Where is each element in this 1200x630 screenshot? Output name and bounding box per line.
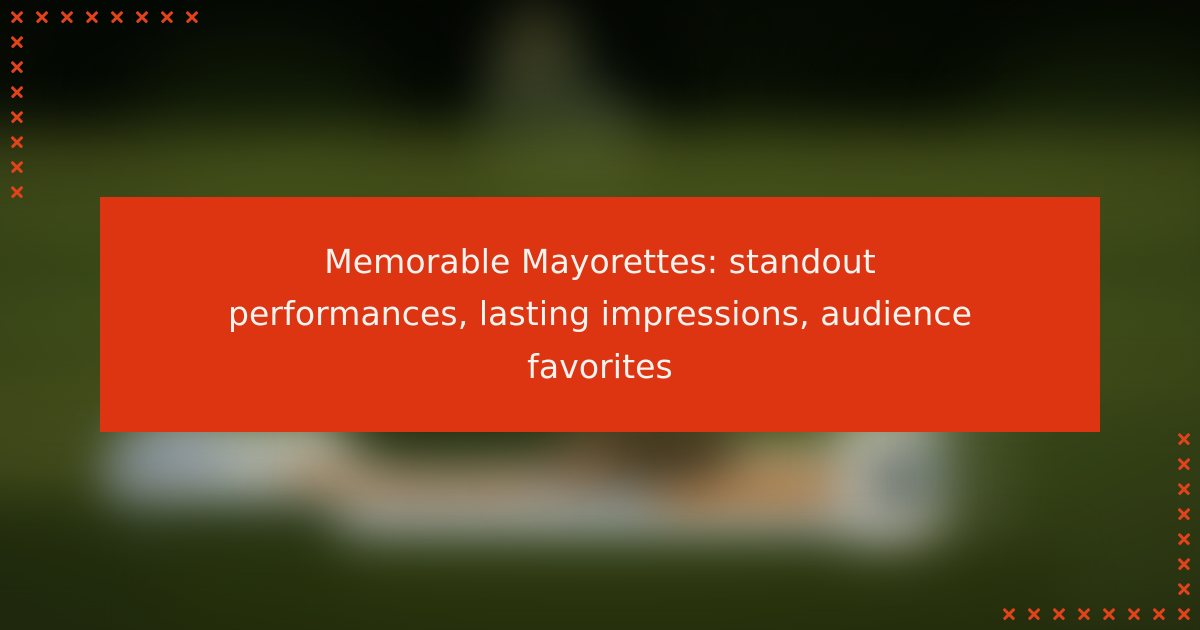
x-mark-icon (1021, 601, 1046, 626)
x-grid-spacer (129, 154, 154, 179)
x-grid-spacer (1121, 526, 1146, 551)
x-mark-icon (4, 104, 29, 129)
x-mark-icon (1071, 601, 1096, 626)
x-grid-spacer (1146, 526, 1171, 551)
x-grid-spacer (129, 129, 154, 154)
x-grid-spacer (54, 79, 79, 104)
x-grid-spacer (1021, 576, 1046, 601)
x-grid-spacer (1046, 576, 1071, 601)
x-grid-spacer (1046, 501, 1071, 526)
x-grid-spacer (54, 154, 79, 179)
x-mark-icon (4, 29, 29, 54)
x-grid-spacer (179, 54, 204, 79)
x-grid-spacer (1071, 526, 1096, 551)
headline-banner: Memorable Mayorettes: standout performan… (100, 197, 1100, 432)
x-mark-icon (1171, 476, 1196, 501)
x-grid-spacer (104, 129, 129, 154)
x-grid-spacer (1146, 451, 1171, 476)
x-grid-spacer (1071, 551, 1096, 576)
x-grid-spacer (179, 79, 204, 104)
x-grid-spacer (1121, 576, 1146, 601)
x-grid-spacer (104, 154, 129, 179)
x-grid-spacer (154, 104, 179, 129)
x-grid-spacer (179, 129, 204, 154)
x-mark-icon (54, 4, 79, 29)
x-grid-spacer (179, 104, 204, 129)
x-grid-spacer (154, 29, 179, 54)
page-title: Memorable Mayorettes: standout performan… (200, 236, 1000, 392)
x-mark-icon (996, 601, 1021, 626)
x-grid-spacer (996, 576, 1021, 601)
x-grid-spacer (1046, 451, 1071, 476)
x-grid-spacer (1021, 476, 1046, 501)
x-grid-spacer (1096, 576, 1121, 601)
x-grid-spacer (1121, 476, 1146, 501)
x-grid-spacer (154, 79, 179, 104)
x-grid-spacer (29, 179, 54, 204)
x-grid-spacer (1021, 551, 1046, 576)
x-grid-spacer (1146, 426, 1171, 451)
x-grid-spacer (29, 29, 54, 54)
x-mark-icon (1171, 501, 1196, 526)
decorative-x-grid-bottom-right (996, 426, 1196, 626)
x-grid-spacer (1121, 451, 1146, 476)
x-grid-spacer (996, 501, 1021, 526)
x-grid-spacer (154, 54, 179, 79)
x-grid-spacer (129, 29, 154, 54)
x-grid-spacer (1046, 526, 1071, 551)
x-mark-icon (1046, 601, 1071, 626)
x-grid-spacer (179, 29, 204, 54)
x-grid-spacer (1121, 501, 1146, 526)
x-mark-icon (4, 79, 29, 104)
x-grid-spacer (1096, 501, 1121, 526)
x-grid-spacer (54, 54, 79, 79)
x-grid-spacer (104, 104, 129, 129)
x-grid-spacer (29, 154, 54, 179)
x-grid-spacer (996, 526, 1021, 551)
x-mark-icon (154, 4, 179, 29)
x-grid-spacer (79, 129, 104, 154)
x-grid-spacer (54, 129, 79, 154)
x-grid-spacer (104, 54, 129, 79)
x-grid-spacer (79, 79, 104, 104)
x-grid-spacer (1121, 551, 1146, 576)
x-grid-spacer (54, 29, 79, 54)
x-mark-icon (1096, 601, 1121, 626)
x-grid-spacer (1146, 551, 1171, 576)
x-mark-icon (1171, 426, 1196, 451)
x-mark-icon (1171, 576, 1196, 601)
x-mark-icon (4, 179, 29, 204)
x-grid-spacer (54, 104, 79, 129)
x-mark-icon (29, 4, 54, 29)
x-grid-spacer (29, 54, 54, 79)
x-grid-spacer (104, 29, 129, 54)
x-mark-icon (129, 4, 154, 29)
x-grid-spacer (29, 104, 54, 129)
x-mark-icon (79, 4, 104, 29)
x-grid-spacer (1046, 476, 1071, 501)
x-grid-spacer (129, 54, 154, 79)
x-grid-spacer (1096, 551, 1121, 576)
x-grid-spacer (129, 79, 154, 104)
x-mark-icon (1146, 601, 1171, 626)
x-grid-spacer (79, 54, 104, 79)
x-mark-icon (1171, 526, 1196, 551)
x-grid-spacer (996, 551, 1021, 576)
x-grid-spacer (1096, 476, 1121, 501)
x-grid-spacer (29, 79, 54, 104)
x-grid-spacer (29, 129, 54, 154)
x-mark-icon (4, 129, 29, 154)
x-grid-spacer (1096, 451, 1121, 476)
x-mark-icon (1171, 601, 1196, 626)
x-grid-spacer (1021, 526, 1046, 551)
x-grid-spacer (79, 29, 104, 54)
x-grid-spacer (1146, 501, 1171, 526)
x-grid-spacer (79, 154, 104, 179)
x-grid-spacer (1096, 526, 1121, 551)
x-grid-spacer (104, 79, 129, 104)
x-mark-icon (4, 54, 29, 79)
x-grid-spacer (996, 476, 1021, 501)
x-grid-spacer (1021, 501, 1046, 526)
x-grid-spacer (1146, 576, 1171, 601)
x-grid-spacer (1071, 576, 1096, 601)
social-share-card: Memorable Mayorettes: standout performan… (0, 0, 1200, 630)
x-mark-icon (179, 4, 204, 29)
x-mark-icon (1121, 601, 1146, 626)
x-grid-spacer (1046, 551, 1071, 576)
x-grid-spacer (154, 129, 179, 154)
x-mark-icon (104, 4, 129, 29)
decorative-x-grid-top-left (4, 4, 204, 204)
x-grid-spacer (179, 154, 204, 179)
x-mark-icon (4, 154, 29, 179)
x-mark-icon (1171, 551, 1196, 576)
x-grid-spacer (54, 179, 79, 204)
x-grid-spacer (1071, 476, 1096, 501)
x-grid-spacer (1021, 451, 1046, 476)
x-grid-spacer (996, 451, 1021, 476)
x-grid-spacer (1146, 476, 1171, 501)
x-mark-icon (1171, 451, 1196, 476)
x-grid-spacer (1121, 426, 1146, 451)
x-mark-icon (4, 4, 29, 29)
x-grid-spacer (79, 104, 104, 129)
x-grid-spacer (1071, 451, 1096, 476)
x-grid-spacer (1071, 501, 1096, 526)
x-grid-spacer (129, 104, 154, 129)
x-grid-spacer (154, 154, 179, 179)
